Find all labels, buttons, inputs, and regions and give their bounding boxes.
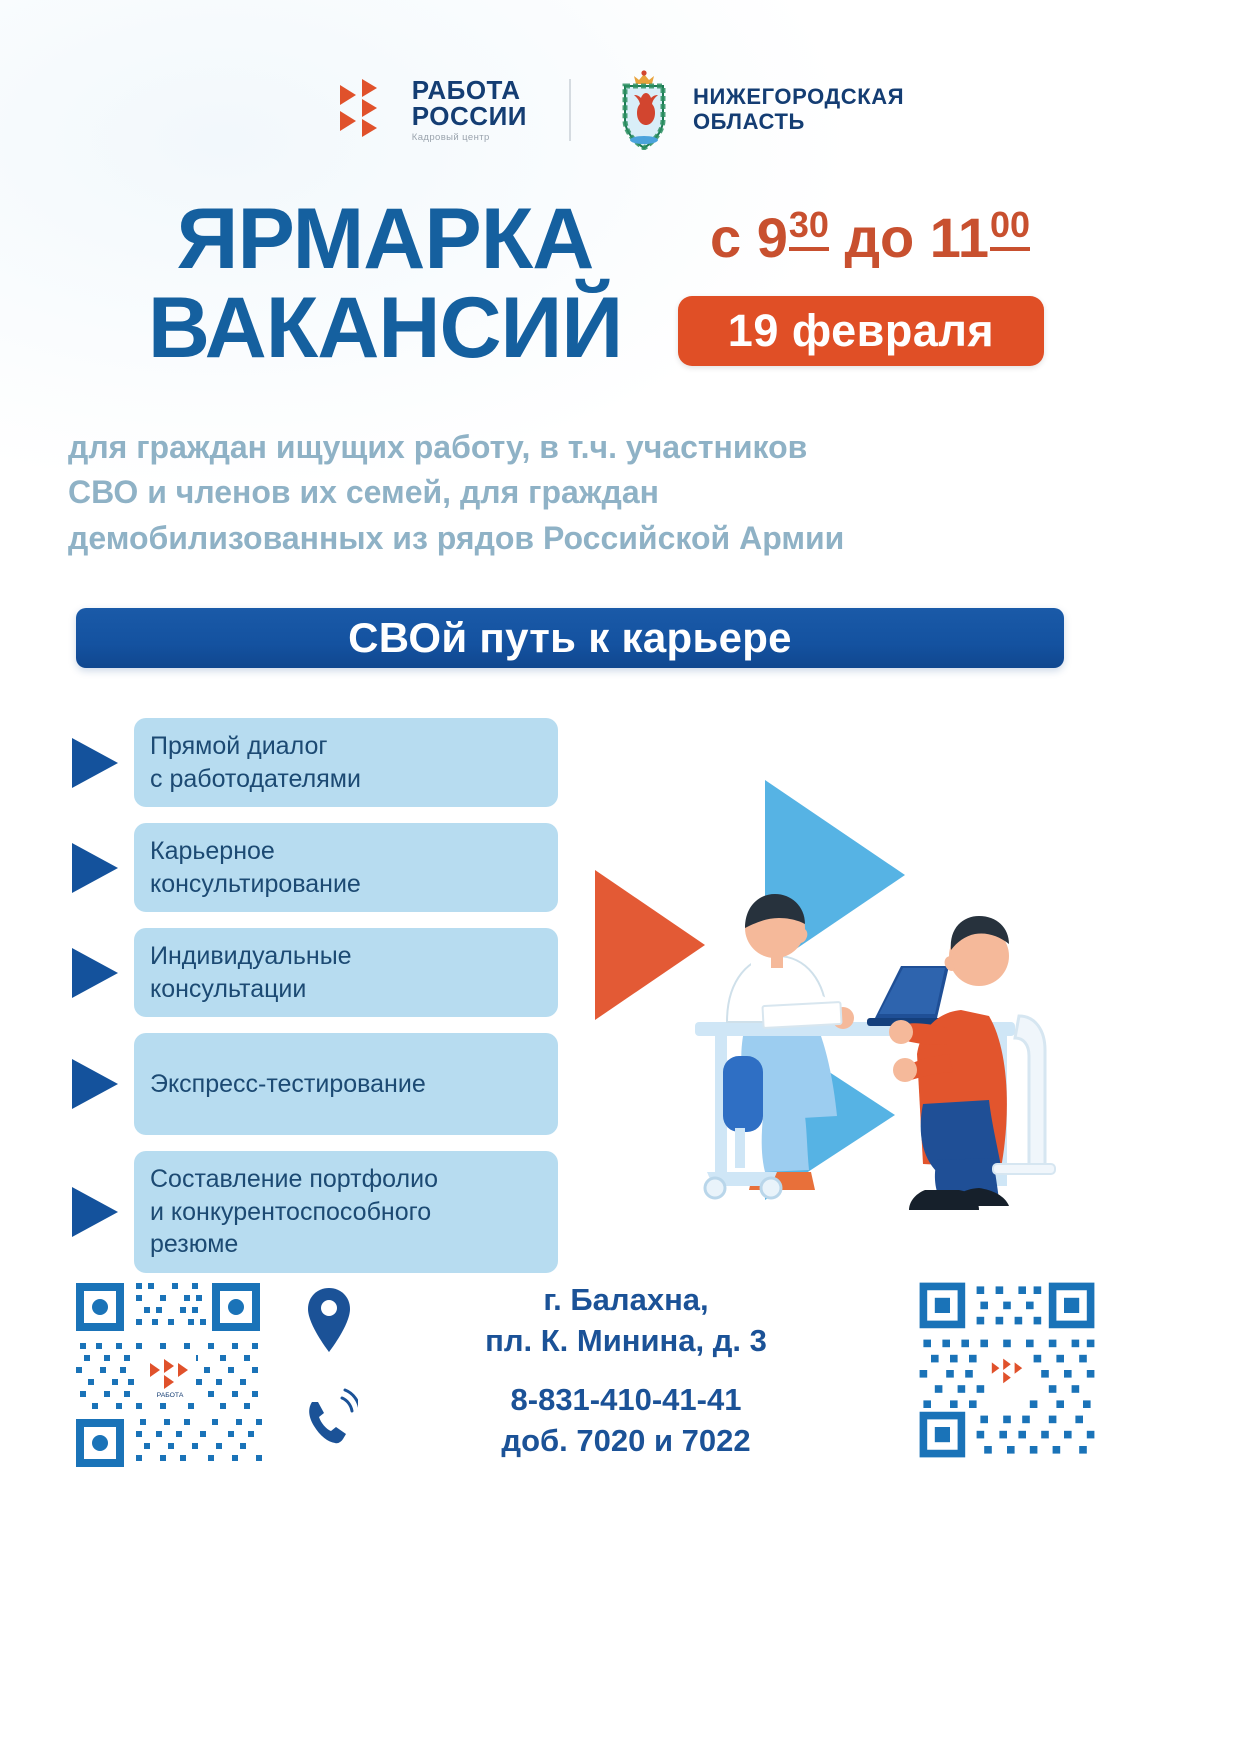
subtitle-line2: СВО и членов их семей, для граждан [68, 470, 1083, 515]
time-from-min: 30 [789, 204, 829, 251]
rabota-rossii-line2: РОССИИ [412, 103, 527, 129]
slogan-banner-label: СВОй путь к карьере [348, 614, 792, 662]
contact-block: г. Балахна, пл. К. Минина, д. 3 8-831-41… [300, 1280, 880, 1480]
list-item: Экспресс-тестирование [68, 1033, 558, 1135]
features-list: Прямой диалог с работодателями Карьерное… [68, 718, 558, 1289]
time-from-hour: 9 [757, 206, 788, 269]
feature-line1: Индивидуальные [150, 940, 352, 973]
slogan-banner: СВОй путь к карьере [76, 608, 1064, 668]
play-triangle-icon [68, 1181, 126, 1243]
phone-line1: 8-831-410-41-41 [372, 1380, 880, 1421]
title-line2: ВАКАНСИЙ [95, 284, 675, 373]
rabota-rossii-wordmark: РАБОТА РОССИИ Кадровый центр [412, 77, 527, 143]
time-to-hour: 11 [930, 206, 989, 269]
time-to-min: 00 [990, 204, 1030, 251]
header-logos: РАБОТА РОССИИ Кадровый центр НИЖЕГОРОДСК… [0, 70, 1240, 150]
region-line1: НИЖЕГОРОДСКАЯ [693, 85, 904, 110]
nizhny-novgorod-coat-of-arms-icon [613, 70, 675, 150]
feature-line2: консультирование [150, 868, 361, 901]
region-wordmark: НИЖЕГОРОДСКАЯ ОБЛАСТЬ [693, 85, 904, 134]
list-item: Прямой диалог с работодателями [68, 718, 558, 807]
address-line2: пл. К. Минина, д. 3 [372, 1321, 880, 1362]
feature-line1: Экспресс-тестирование [150, 1068, 426, 1101]
subtitle-line1: для граждан ищущих работу, в т.ч. участн… [68, 425, 1083, 470]
poster-root: РАБОТА РОССИИ Кадровый центр НИЖЕГОРОДСК… [0, 0, 1240, 1755]
feature-box: Составление портфолио и конкурентоспособ… [134, 1151, 558, 1273]
title-line1: ЯРМАРКА [95, 195, 675, 284]
phone-row: 8-831-410-41-41 доб. 7020 и 7022 [300, 1380, 880, 1462]
time-prefix: с [710, 206, 741, 269]
play-triangle-icon [68, 837, 126, 899]
rabota-rossii-triangles-icon [336, 79, 398, 141]
play-triangle-icon [68, 1053, 126, 1115]
header-divider [569, 79, 571, 141]
region-line2: ОБЛАСТЬ [693, 110, 904, 135]
address-row: г. Балахна, пл. К. Минина, д. 3 [300, 1280, 880, 1362]
list-item: Составление портфолио и конкурентоспособ… [68, 1151, 558, 1273]
feature-line3: резюме [150, 1228, 438, 1261]
map-pin-icon [300, 1282, 358, 1360]
play-triangle-icon [68, 942, 126, 1004]
phone-text: 8-831-410-41-41 доб. 7020 и 7022 [372, 1380, 880, 1462]
feature-line1: Прямой диалог [150, 730, 361, 763]
feature-line2: и конкурентоспособного [150, 1196, 438, 1229]
subtitle-paragraph: для граждан ищущих работу, в т.ч. участн… [68, 425, 1083, 561]
feature-line2: консультации [150, 973, 352, 1006]
address-text: г. Балахна, пл. К. Минина, д. 3 [372, 1280, 880, 1362]
qr-code-rabota-rossii-icon[interactable]: РАБОТА [68, 1275, 268, 1475]
feature-line1: Составление портфолио [150, 1163, 438, 1196]
play-triangle-icon [68, 732, 126, 794]
feature-line1: Карьерное [150, 835, 361, 868]
page-title: ЯРМАРКА ВАКАНСИЙ [95, 195, 675, 374]
feature-box: Экспресс-тестирование [134, 1033, 558, 1135]
feature-box: Индивидуальные консультации [134, 928, 558, 1017]
svg-text:РАБОТА: РАБОТА [157, 1392, 184, 1399]
list-item: Индивидуальные консультации [68, 928, 558, 1017]
logo-rabota-rossii: РАБОТА РОССИИ Кадровый центр [336, 77, 527, 143]
rabota-rossii-line1: РАБОТА [412, 77, 527, 103]
subtitle-line3: демобилизованных из рядов Российской Арм… [68, 516, 1083, 561]
rabota-rossii-subtitle: Кадровый центр [412, 133, 527, 143]
date-badge: 19 февраля [678, 296, 1044, 366]
qr-code-secondary-icon[interactable] [912, 1275, 1102, 1465]
event-time: с 930 до 1100 [660, 205, 1080, 270]
list-item: Карьерное консультирование [68, 823, 558, 912]
phone-icon [300, 1382, 358, 1460]
feature-line2: с работодателями [150, 763, 361, 796]
time-middle: до [844, 206, 914, 269]
feature-box: Карьерное консультирование [134, 823, 558, 912]
address-line1: г. Балахна, [372, 1280, 880, 1321]
date-badge-label: 19 февраля [728, 305, 994, 357]
phone-line2: доб. 7020 и 7022 [372, 1421, 880, 1462]
feature-box: Прямой диалог с работодателями [134, 718, 558, 807]
logo-nizhny-novgorod: НИЖЕГОРОДСКАЯ ОБЛАСТЬ [613, 70, 904, 150]
career-consultation-illustration [575, 760, 1075, 1220]
